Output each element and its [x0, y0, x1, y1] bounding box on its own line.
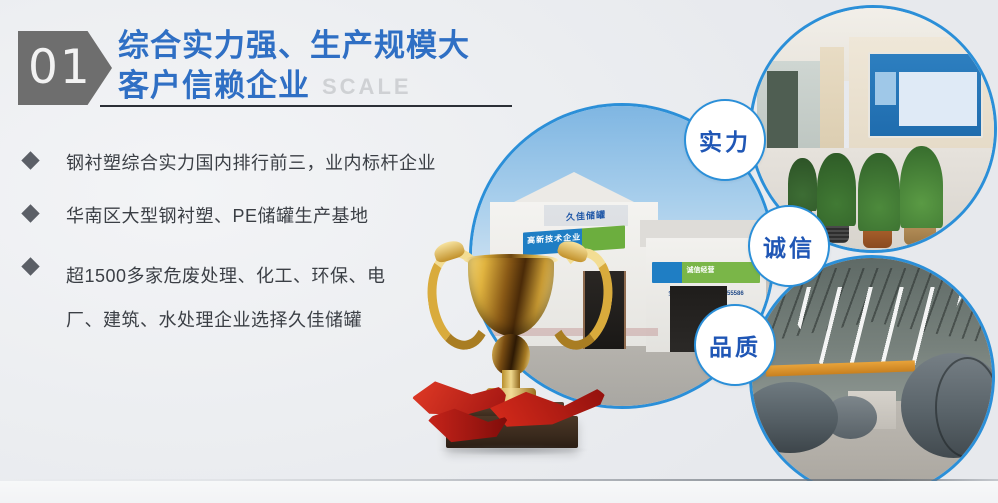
factory-sign: 久佳储罐 — [544, 205, 628, 226]
title-line-1: 综合实力强、生产规模大 — [118, 28, 538, 64]
potted-plant — [858, 153, 899, 230]
list-item: 钢衬塑综合实力国内排行前三，业内标杆企业 — [24, 148, 494, 179]
section-titles: 综合实力强、生产规模大 客户信赖企业SCALE — [118, 28, 538, 105]
title-line-2: 客户信赖企业SCALE — [118, 68, 538, 105]
diamond-bullet-icon — [21, 204, 39, 222]
potted-plant — [900, 146, 944, 228]
board-left-panel — [875, 72, 896, 105]
footer-strip — [0, 481, 998, 503]
section-number-badge: 01 — [18, 31, 112, 105]
factory-sign-text: 久佳储罐 — [544, 202, 628, 229]
title-divider — [100, 105, 512, 107]
trophy-shadow — [436, 444, 590, 456]
section-number: 01 — [18, 44, 92, 91]
diamond-bullet-icon — [21, 257, 39, 275]
photo-workshop-tanks — [752, 258, 992, 496]
trophy-stem — [502, 370, 520, 390]
list-item-text: 钢衬塑综合实力国内排行前三，业内标杆企业 — [66, 148, 494, 179]
info-board — [868, 52, 983, 138]
tank-rim — [935, 357, 992, 457]
title-english: SCALE — [322, 74, 412, 99]
doorway-dark — [767, 71, 798, 153]
badge-bubble-integrity: 诚信 — [748, 205, 830, 287]
board-text-panel — [899, 72, 977, 126]
footer-divider — [0, 479, 998, 481]
potted-plant — [817, 153, 856, 226]
banner-right-text: 诚信经营 — [687, 265, 715, 275]
trophy-graphic — [406, 238, 616, 463]
badge-bubble-strength: 实力 — [684, 99, 766, 181]
diamond-bullet-icon — [21, 151, 39, 169]
list-item-text: 华南区大型钢衬塑、PE储罐生产基地 — [66, 201, 494, 232]
promo-banner: 01 综合实力强、生产规模大 客户信赖企业SCALE 钢衬塑综合实力国内排行前三… — [0, 0, 998, 503]
title-line-2-text: 客户信赖企业 — [118, 68, 310, 103]
badge-bubble-quality: 品质 — [694, 304, 776, 386]
banner-right: 诚信经营 — [652, 262, 760, 283]
list-item: 华南区大型钢衬塑、PE储罐生产基地 — [24, 201, 494, 232]
potted-plant — [788, 158, 817, 211]
